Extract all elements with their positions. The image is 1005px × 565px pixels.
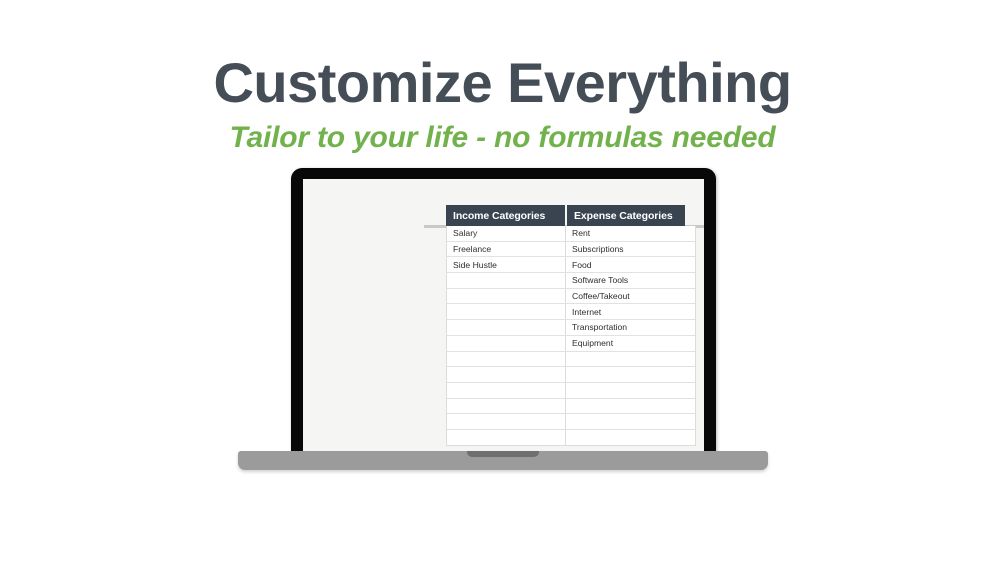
table-cell[interactable]: Freelance — [447, 242, 566, 257]
table-cell[interactable] — [447, 273, 566, 288]
table-cell[interactable] — [566, 367, 694, 382]
table-row[interactable]: Coffee/Takeout — [447, 288, 695, 304]
table-row[interactable] — [447, 366, 695, 382]
table-cell[interactable] — [447, 320, 566, 335]
table-cell[interactable]: Food — [566, 257, 694, 272]
table-row[interactable] — [447, 382, 695, 398]
table-cell[interactable]: Rent — [566, 226, 694, 241]
table-cell[interactable] — [447, 289, 566, 304]
column-header-income-categories[interactable]: Income Categories — [446, 205, 565, 226]
table-cell[interactable] — [447, 414, 566, 429]
table-cell[interactable] — [447, 367, 566, 382]
table-cell[interactable]: Subscriptions — [566, 242, 694, 257]
table-row[interactable] — [447, 351, 695, 367]
table-cell[interactable]: Equipment — [566, 336, 694, 351]
table-row[interactable]: SalaryRent — [447, 226, 695, 241]
table-row[interactable]: Software Tools — [447, 272, 695, 288]
headline-block: Customize Everything Tailor to your life… — [0, 54, 1005, 155]
laptop-lid: Income Categories Expense Categories Sal… — [291, 168, 716, 453]
table-cell[interactable] — [566, 383, 694, 398]
table-cell[interactable]: Side Hustle — [447, 257, 566, 272]
table-row[interactable]: Equipment — [447, 335, 695, 351]
table-cell[interactable]: Software Tools — [566, 273, 694, 288]
table-row[interactable]: Side HustleFood — [447, 256, 695, 272]
table-cell[interactable] — [447, 430, 566, 445]
spreadsheet-header-row: Income Categories Expense Categories — [446, 205, 696, 226]
table-cell[interactable]: Coffee/Takeout — [566, 289, 694, 304]
spreadsheet-body: SalaryRentFreelanceSubscriptionsSide Hus… — [446, 226, 696, 446]
table-cell[interactable] — [566, 414, 694, 429]
table-cell[interactable] — [566, 430, 694, 445]
table-row[interactable]: FreelanceSubscriptions — [447, 241, 695, 257]
laptop-base — [238, 451, 768, 470]
table-cell[interactable] — [566, 399, 694, 414]
table-cell[interactable] — [447, 383, 566, 398]
table-cell[interactable]: Salary — [447, 226, 566, 241]
page-subtitle: Tailor to your life - no formulas needed — [0, 121, 1005, 156]
laptop-mockup: Income Categories Expense Categories Sal… — [232, 168, 774, 474]
table-row[interactable] — [447, 398, 695, 414]
table-cell[interactable]: Transportation — [566, 320, 694, 335]
table-row[interactable]: Internet — [447, 303, 695, 319]
table-cell[interactable] — [447, 336, 566, 351]
laptop-base-notch — [467, 451, 539, 457]
table-cell[interactable] — [447, 304, 566, 319]
table-cell[interactable] — [447, 352, 566, 367]
table-cell[interactable]: Internet — [566, 304, 694, 319]
spreadsheet: Income Categories Expense Categories Sal… — [446, 205, 696, 446]
table-cell[interactable] — [447, 399, 566, 414]
table-cell[interactable] — [566, 352, 694, 367]
table-row[interactable] — [447, 429, 695, 445]
column-header-expense-categories[interactable]: Expense Categories — [567, 205, 685, 226]
page-title: Customize Everything — [0, 54, 1005, 113]
table-row[interactable]: Transportation — [447, 319, 695, 335]
table-row[interactable] — [447, 413, 695, 429]
laptop-screen: Income Categories Expense Categories Sal… — [303, 179, 704, 453]
